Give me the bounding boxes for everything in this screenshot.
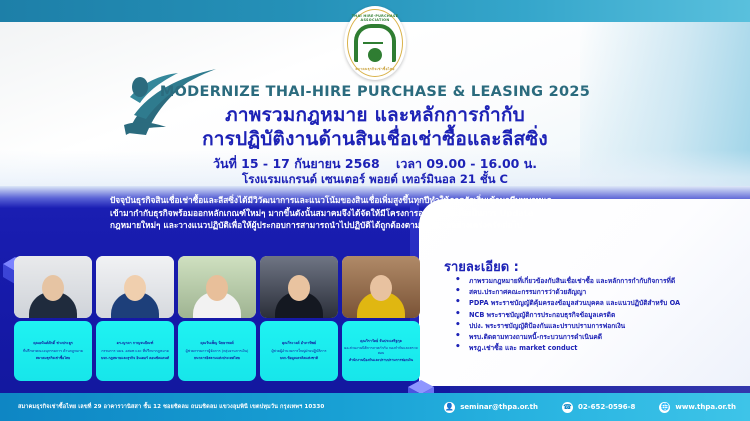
- speaker-card[interactable]: คุณวิราวัลย์ จันประเสริฐกุล ผอ.ส่วนงานนิ…: [342, 256, 420, 384]
- detail-item: ปปง. พระราชบัญญัติป้องกันและปราบปรามการฟ…: [452, 322, 740, 332]
- speakers-row: คุณอนันต์ศักดิ์ ช่วงประยูร ที่ปรึกษาคณะอ…: [14, 256, 422, 384]
- footer-contacts: 👤 seminar@thpa.or.th ☎ 02-652-0596-8 🌐 w…: [444, 393, 736, 421]
- speaker-role: กรรมการ บมจ. อสมท และ ที่ปรึกษากฎหมาย: [101, 349, 168, 354]
- speaker-org: ธนาคารอิสลามแห่งประเทศไทย: [194, 356, 240, 361]
- speaker-photo: [342, 256, 420, 318]
- detail-item: สคบ.ประกาศคณะกรรมการว่าด้วยสัญญา: [452, 288, 740, 298]
- intro-line-3: กฎหมายใหม่ๆ และวางแนวปฏิบัติเพื่อให้ผู้ป…: [110, 219, 645, 232]
- details-list: ภาพรวมกฎหมายที่เกี่ยวข้องกับสินเชื่อเช่า…: [452, 277, 740, 355]
- speaker-org: บจก.กฎหมายและธุรกิจ อินเตอร์ คอนซัลแตนท์: [101, 356, 169, 361]
- detail-item: ภาพรวมกฎหมายที่เกี่ยวข้องกับสินเชื่อเช่า…: [452, 277, 740, 287]
- detail-item: NCB พระราชบัญญัติการประกอบธุรกิจข้อมูลเค…: [452, 311, 740, 321]
- speaker-name: คุณวันเพ็ญ นิธยาพงศ์: [200, 341, 233, 346]
- detail-item: พรบ.ติดตามทวงถามหนี้-กระบวนการดำเนินคดี: [452, 333, 740, 343]
- speaker-name: คุณอนันต์ศักดิ์ ช่วงประยูร: [33, 341, 73, 346]
- intro-line-1: ปัจจุบันธุรกิจสินเชื่อเช่าซื้อและลีสซิ่ง…: [110, 194, 645, 207]
- contact-phone-text: 02-652-0596-8: [578, 403, 635, 411]
- details-heading: รายละเอียด :: [444, 256, 519, 277]
- speaker-photo: [96, 256, 174, 318]
- logo-text-top: THAI HIRE-PURCHASE ASSOCIATION: [348, 14, 402, 22]
- contact-website-text: www.thpa.or.th: [675, 403, 736, 411]
- speaker-caption: คุณวิราวัลย์ จันประเสริฐกุล ผอ.ส่วนงานนิ…: [342, 321, 420, 381]
- event-poster: THAI HIRE-PURCHASE ASSOCIATION สมาคมธุรก…: [0, 0, 750, 421]
- speaker-card[interactable]: คุณวีระวงศ์ อำภาทิพย์ ผู้ช่วยผู้อำนวยการ…: [260, 256, 338, 384]
- logo-ring: THAI HIRE-PURCHASE ASSOCIATION สมาคมธุรก…: [347, 9, 403, 77]
- speaker-card[interactable]: คุณอนันต์ศักดิ์ ช่วงประยูร ที่ปรึกษาคณะอ…: [14, 256, 92, 384]
- speaker-photo: [260, 256, 338, 318]
- speaker-role: ที่ปรึกษาคณะอนุกรรมการ ด้านกฎหมาย: [23, 349, 83, 354]
- title-thai-line2: การปฏิบัติงานด้านสินเชื่อเช่าซื้อและลีสซ…: [0, 124, 750, 154]
- speaker-photo: [14, 256, 92, 318]
- speaker-org: สมาคมธุรกิจเช่าซื้อไทย: [36, 356, 70, 361]
- person-icon: 👤: [444, 402, 455, 413]
- speaker-caption: คุณอนันต์ศักดิ์ ช่วงประยูร ที่ปรึกษาคณะอ…: [14, 321, 92, 381]
- footer-address: สมาคมธุรกิจเช่าซื้อไทย เลขที่ 29 อาคารวา…: [18, 403, 324, 411]
- intro-paragraph: ปัจจุบันธุรกิจสินเชื่อเช่าซื้อและลีสซิ่ง…: [110, 194, 645, 232]
- event-time: เวลา 09.00 - 16.00 น.: [396, 156, 537, 171]
- speaker-role: ผอ.ส่วนงานนิติการภาคกำกับ กองกำกับและตรว…: [344, 346, 418, 356]
- event-venue: โรงแรมแกรนด์ เซนเตอร์ พอยต์ เทอร์มินอล 2…: [0, 171, 750, 189]
- detail-item: พรฎ.เช่าซื้อ และ market conduct: [452, 344, 740, 354]
- speaker-org: สำนักงานป้องกันและปราบปรามการฟอกเงิน: [349, 358, 413, 363]
- globe-icon: 🌐: [659, 402, 670, 413]
- event-date: วันที่ 15 - 17 กันยายน 2568: [213, 156, 380, 171]
- logo-arch-icon: [354, 24, 396, 62]
- contact-website[interactable]: 🌐 www.thpa.or.th: [659, 402, 736, 413]
- speaker-photo: [178, 256, 256, 318]
- speaker-caption: คุณวีระวงศ์ อำภาทิพย์ ผู้ช่วยผู้อำนวยการ…: [260, 321, 338, 381]
- title-english: MODERNIZE THAI-HIRE PURCHASE & LEASING 2…: [0, 84, 750, 100]
- phone-icon: ☎: [562, 402, 573, 413]
- speaker-caption: ดร.ญาดา กาญจนปัณฑ์ กรรมการ บมจ. อสมท และ…: [96, 321, 174, 381]
- intro-line-2: เข้ามากำกับธุรกิจพร้อมออกหลักเกณฑ์ใหม่ๆ …: [110, 207, 645, 220]
- speaker-name: คุณวีระวงศ์ อำภาทิพย์: [282, 341, 316, 346]
- logo-text-bottom: สมาคมธุรกิจเช่าซื้อไทย: [348, 67, 402, 72]
- speaker-card[interactable]: คุณวันเพ็ญ นิธยาพงศ์ ผู้ช่วยกรรมการผู้จั…: [178, 256, 256, 384]
- speaker-org: บจก.ข้อมูลเครดิตแห่งชาติ: [280, 356, 318, 361]
- speaker-name: คุณวิราวัลย์ จันประเสริฐกุล: [360, 339, 402, 344]
- speaker-role: ผู้ช่วยผู้อำนวยการใหญ่ฝ่ายปฏิบัติการ: [271, 349, 326, 354]
- footer-bar: สมาคมธุรกิจเช่าซื้อไทย เลขที่ 29 อาคารวา…: [0, 393, 750, 421]
- association-logo: THAI HIRE-PURCHASE ASSOCIATION สมาคมธุรก…: [344, 6, 406, 80]
- contact-email[interactable]: 👤 seminar@thpa.or.th: [444, 402, 538, 413]
- contact-email-text: seminar@thpa.or.th: [460, 403, 538, 411]
- contact-phone[interactable]: ☎ 02-652-0596-8: [562, 402, 635, 413]
- detail-item: PDPA พระราชบัญญัติคุ้มครองข้อมูลส่วนบุคค…: [452, 299, 740, 309]
- speaker-card[interactable]: ดร.ญาดา กาญจนปัณฑ์ กรรมการ บมจ. อสมท และ…: [96, 256, 174, 384]
- speaker-role: ผู้ช่วยกรรมการผู้จัดการ (กลุ่มงานการเงิน…: [186, 349, 249, 354]
- speaker-caption: คุณวันเพ็ญ นิธยาพงศ์ ผู้ช่วยกรรมการผู้จั…: [178, 321, 256, 381]
- speaker-name: ดร.ญาดา กาญจนปัณฑ์: [117, 341, 154, 346]
